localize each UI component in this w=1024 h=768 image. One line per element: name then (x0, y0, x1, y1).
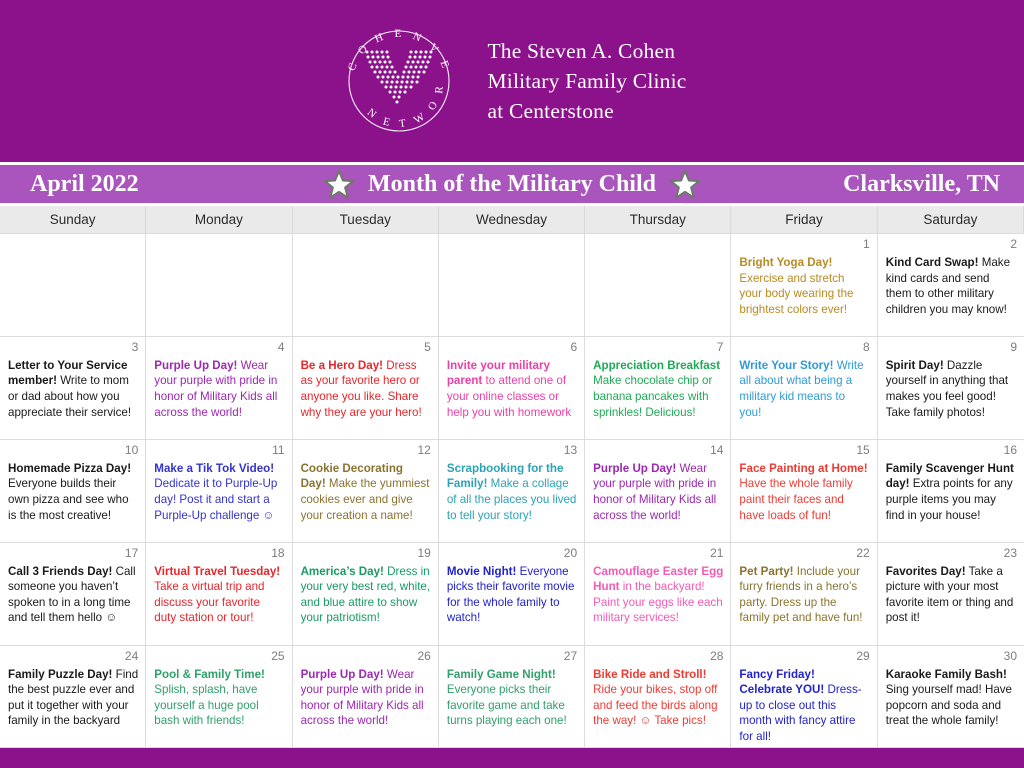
activity-title: Write Your Story! (739, 359, 833, 372)
activity-title: Virtual Travel Tuesday! (154, 565, 280, 578)
day-activity: Write Your Story! Write all about what b… (739, 358, 869, 420)
location-label: Clarksville, TN (754, 171, 1024, 198)
day-activity: Kind Card Swap! Make kind cards and send… (886, 255, 1017, 317)
day-number: 18 (154, 547, 284, 562)
day-activity: Appreciation Breakfast Make chocolate ch… (593, 358, 723, 420)
day-number: 5 (301, 341, 431, 356)
calendar-page: C O H E N V E T E R A N S N E T W O R K (0, 0, 1024, 768)
activity-title: Karaoke Family Bash! (886, 668, 1007, 681)
day-number: 2 (886, 238, 1017, 253)
calendar-day-cell[interactable]: 1Bright Yoga Day! Exercise and stretch y… (731, 233, 877, 336)
calendar-day-cell[interactable]: 28Bike Ride and Stroll! Ride your bikes,… (585, 645, 731, 748)
day-number: 29 (739, 650, 869, 665)
calendar-day-cell[interactable]: 10Homemade Pizza Day! Everyone builds th… (0, 439, 146, 542)
calendar-day-cell[interactable]: 16Family Scavenger Hunt day! Extra point… (878, 439, 1024, 542)
activity-description: Sing yourself mad! Have popcorn and soda… (886, 683, 1012, 727)
day-activity: Purple Up Day! Wear your purple with pri… (301, 667, 431, 729)
activity-description: Splish, splash, have yourself a huge poo… (154, 683, 258, 727)
calendar-day-cell[interactable]: 13Scrapbooking for the Family! Make a co… (439, 439, 585, 542)
calendar-day-cell[interactable]: 2Kind Card Swap! Make kind cards and sen… (878, 233, 1024, 336)
calendar-day-cell[interactable]: 15Face Painting at Home! Have the whole … (731, 439, 877, 542)
day-activity: Cookie Decorating Day! Make the yummiest… (301, 461, 431, 523)
day-number: 22 (739, 547, 869, 562)
day-number: 20 (447, 547, 577, 562)
activity-title: Movie Night! (447, 565, 517, 578)
day-activity: Scrapbooking for the Family! Make a coll… (447, 461, 577, 523)
activity-title: Face Painting at Home! (739, 462, 867, 475)
calendar-day-cell[interactable]: 18Virtual Travel Tuesday! Take a virtual… (146, 542, 292, 645)
day-activity: Purple Up Day! Wear your purple with pri… (593, 461, 723, 523)
contact-footer: CONTACT US: 775 Weatherly Drive, Clarksv… (0, 748, 1024, 768)
day-of-week-header: Tuesday (293, 206, 439, 233)
calendar-day-cell[interactable]: 24Family Puzzle Day! Find the best puzzl… (0, 645, 146, 748)
day-activity: Favorites Day! Take a picture with your … (886, 564, 1017, 626)
calendar-empty-cell (293, 233, 439, 336)
activity-title: Call 3 Friends Day! (8, 565, 112, 578)
activity-title: Fancy Friday! Celebrate YOU! (739, 668, 824, 697)
day-activity: Make a Tik Tok Video! Dedicate it to Pur… (154, 461, 284, 523)
calendar-day-cell[interactable]: 25Pool & Family Time! Splish, splash, ha… (146, 645, 292, 748)
day-number (301, 238, 431, 253)
activity-description: Have the whole family paint their faces … (739, 477, 852, 521)
day-number: 13 (447, 444, 577, 459)
day-activity: America’s Day! Dress in your very best r… (301, 564, 431, 626)
activity-description: Dedicate it to Purple-Up day! Post it an… (154, 477, 277, 521)
activity-title: Purple Up Day! (154, 359, 237, 372)
activity-title: Favorites Day! (886, 565, 966, 578)
day-number (447, 238, 577, 253)
day-activity: Call 3 Friends Day! Call someone you hav… (8, 564, 138, 626)
calendar-empty-cell (439, 233, 585, 336)
activity-title: Spirit Day! (886, 359, 944, 372)
day-number: 26 (301, 650, 431, 665)
day-number: 1 (739, 238, 869, 253)
day-number: 15 (739, 444, 869, 459)
day-number: 24 (8, 650, 138, 665)
star-icon (670, 170, 700, 199)
day-number: 27 (447, 650, 577, 665)
calendar-day-cell[interactable]: 7Appreciation Breakfast Make chocolate c… (585, 336, 731, 439)
day-number: 9 (886, 341, 1017, 356)
day-number: 8 (739, 341, 869, 356)
day-activity: Pet Party! Include your furry friends in… (739, 564, 869, 626)
calendar-day-cell[interactable]: 29Fancy Friday! Celebrate YOU! Dress-up … (731, 645, 877, 748)
day-number: 14 (593, 444, 723, 459)
calendar-day-cell[interactable]: 11Make a Tik Tok Video! Dedicate it to P… (146, 439, 292, 542)
activity-title: Family Puzzle Day! (8, 668, 112, 681)
day-number: 6 (447, 341, 577, 356)
calendar-day-cell[interactable]: 23Favorites Day! Take a picture with you… (878, 542, 1024, 645)
day-number: 16 (886, 444, 1017, 459)
calendar-day-cell[interactable]: 26Purple Up Day! Wear your purple with p… (293, 645, 439, 748)
headline-group: Month of the Military Child (270, 170, 754, 199)
day-number: 4 (154, 341, 284, 356)
activity-description: Ride your bikes, stop off and feed the b… (593, 683, 717, 727)
day-of-week-header: Wednesday (439, 206, 585, 233)
day-of-week-header: Friday (731, 206, 877, 233)
activity-title: Pet Party! (739, 565, 793, 578)
day-number: 28 (593, 650, 723, 665)
activity-title: Kind Card Swap! (886, 256, 979, 269)
brand-line-3: at Centerstone (487, 96, 686, 126)
activity-title: Bright Yoga Day! (739, 256, 832, 269)
day-number: 3 (8, 341, 138, 356)
calendar-day-cell[interactable]: 5Be a Hero Day! Dress as your favorite h… (293, 336, 439, 439)
calendar-day-cell[interactable]: 3Letter to Your Service member! Write to… (0, 336, 146, 439)
day-number (154, 238, 284, 253)
day-activity: Bike Ride and Stroll! Ride your bikes, s… (593, 667, 723, 729)
activity-title: Make a Tik Tok Video! (154, 462, 274, 475)
calendar-day-cell[interactable]: 9Spirit Day! Dazzle yourself in anything… (878, 336, 1024, 439)
calendar-empty-cell (0, 233, 146, 336)
calendar-day-cell[interactable]: 27Family Game Night! Everyone picks thei… (439, 645, 585, 748)
calendar-empty-cell (585, 233, 731, 336)
day-of-week-header: Sunday (0, 206, 146, 233)
day-number: 7 (593, 341, 723, 356)
activity-title: Bike Ride and Stroll! (593, 668, 706, 681)
brand-line-1: The Steven A. Cohen (487, 36, 686, 66)
calendar-day-cell[interactable]: 19America’s Day! Dress in your very best… (293, 542, 439, 645)
cohen-veterans-network-logo-icon: C O H E N V E T E R A N S N E T W O R K (337, 21, 461, 141)
activity-title: Purple Up Day! (593, 462, 676, 475)
calendar-day-cell[interactable]: 8Write Your Story! Write all about what … (731, 336, 877, 439)
day-activity: Camouflage Easter Egg Hunt in the backya… (593, 564, 723, 626)
day-activity: Invite your military parent to attend on… (447, 358, 577, 420)
brand-line-2: Military Family Clinic (487, 66, 686, 96)
activity-title: Appreciation Breakfast (593, 359, 720, 372)
calendar-day-cell[interactable]: 30Karaoke Family Bash! Sing yourself mad… (878, 645, 1024, 748)
clinic-name: The Steven A. Cohen Military Family Clin… (487, 36, 686, 126)
calendar-day-cell[interactable]: 14Purple Up Day! Wear your purple with p… (585, 439, 731, 542)
activity-title: Be a Hero Day! (301, 359, 383, 372)
day-activity: Bright Yoga Day! Exercise and stretch yo… (739, 255, 869, 317)
day-number: 17 (8, 547, 138, 562)
calendar-empty-cell (146, 233, 292, 336)
day-number (593, 238, 723, 253)
star-icon (324, 170, 354, 199)
day-of-week-header: Monday (146, 206, 292, 233)
calendar-day-cell[interactable]: 20Movie Night! Everyone picks their favo… (439, 542, 585, 645)
day-of-week-header: Saturday (878, 206, 1024, 233)
masthead: C O H E N V E T E R A N S N E T W O R K (0, 0, 1024, 162)
day-number: 30 (886, 650, 1017, 665)
day-number: 11 (154, 444, 284, 459)
day-number: 21 (593, 547, 723, 562)
day-activity: Letter to Your Service member! Write to … (8, 358, 138, 420)
day-activity: Family Scavenger Hunt day! Extra points … (886, 461, 1017, 523)
activity-title: Family Game Night! (447, 668, 556, 681)
calendar-day-cell[interactable]: 4Purple Up Day! Wear your purple with pr… (146, 336, 292, 439)
month-year-label: April 2022 (0, 171, 270, 198)
activity-description: Exercise and stretch your body wearing t… (739, 272, 853, 316)
calendar-day-cell[interactable]: 22Pet Party! Include your furry friends … (731, 542, 877, 645)
day-number: 10 (8, 444, 138, 459)
calendar-day-cell[interactable]: 21Camouflage Easter Egg Hunt in the back… (585, 542, 731, 645)
day-number: 25 (154, 650, 284, 665)
activity-title: Pool & Family Time! (154, 668, 265, 681)
activity-title: America’s Day! (301, 565, 384, 578)
day-activity: Family Game Night! Everyone picks their … (447, 667, 577, 729)
day-activity: Homemade Pizza Day! Everyone builds thei… (8, 461, 138, 523)
day-activity: Spirit Day! Dazzle yourself in anything … (886, 358, 1017, 420)
activity-title: Purple Up Day! (301, 668, 384, 681)
day-activity: Family Puzzle Day! Find the best puzzle … (8, 667, 138, 729)
day-activity: Virtual Travel Tuesday! Take a virtual t… (154, 564, 284, 626)
calendar-day-cell[interactable]: 12Cookie Decorating Day! Make the yummie… (293, 439, 439, 542)
day-number: 23 (886, 547, 1017, 562)
day-activity: Pool & Family Time! Splish, splash, have… (154, 667, 284, 729)
activity-title: Homemade Pizza Day! (8, 462, 131, 475)
calendar-day-cell[interactable]: 17Call 3 Friends Day! Call someone you h… (0, 542, 146, 645)
activity-description: Everyone picks their favorite game and t… (447, 683, 567, 727)
day-number: 19 (301, 547, 431, 562)
day-number (8, 238, 138, 253)
calendar-day-cell[interactable]: 6Invite your military parent to attend o… (439, 336, 585, 439)
activity-description: Make chocolate chip or banana pancakes w… (593, 374, 712, 418)
activity-description: Everyone builds their own pizza and see … (8, 477, 129, 521)
day-activity: Be a Hero Day! Dress as your favorite he… (301, 358, 431, 420)
day-activity: Karaoke Family Bash! Sing yourself mad! … (886, 667, 1017, 729)
day-of-week-header: Thursday (585, 206, 731, 233)
day-activity: Fancy Friday! Celebrate YOU! Dress-up to… (739, 667, 869, 745)
day-number: 12 (301, 444, 431, 459)
calendar-title-band: April 2022 Month of the Military Child C… (0, 162, 1024, 206)
day-activity: Purple Up Day! Wear your purple with pri… (154, 358, 284, 420)
activity-description: Take a virtual trip and discuss your fav… (154, 580, 264, 624)
day-activity: Movie Night! Everyone picks their favori… (447, 564, 577, 626)
headline-text: Month of the Military Child (368, 171, 656, 198)
day-activity: Face Painting at Home! Have the whole fa… (739, 461, 869, 523)
calendar-grid: SundayMondayTuesdayWednesdayThursdayFrid… (0, 206, 1024, 748)
